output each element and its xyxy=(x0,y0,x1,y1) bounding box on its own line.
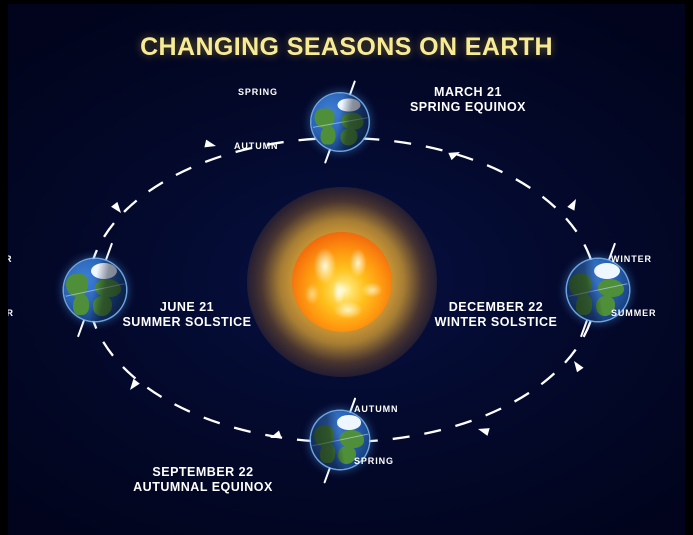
season-label-spring: SPRING xyxy=(238,87,278,97)
event-line: WINTER SOLSTICE xyxy=(416,315,576,330)
earth-winter-solstice[interactable]: WINTER SUMMER xyxy=(533,225,663,355)
earth-autumnal-equinox[interactable]: AUTUMN SPRING xyxy=(280,380,400,500)
season-label-summer: SUMMER xyxy=(8,254,12,264)
orbit-arrow-icon xyxy=(111,202,124,216)
event-line: SUMMER SOLSTICE xyxy=(107,315,267,330)
date-line: SEPTEMBER 22 xyxy=(113,465,293,480)
earth-globe xyxy=(312,94,369,151)
season-label-autumn: AUTUMN xyxy=(234,141,278,151)
diagram-canvas: CHANGING SEASONS ON EARTH SPRING AUTUM xyxy=(0,0,693,535)
season-label-winter: WINTER xyxy=(611,254,652,264)
date-label-summer-solstice: JUNE 21 SUMMER SOLSTICE xyxy=(107,300,267,330)
orbit-arrow-icon xyxy=(204,140,217,150)
earth-summer-solstice[interactable]: SUMMER WINTER xyxy=(30,225,160,355)
day-night-terminator xyxy=(312,94,369,151)
orbit-arrow-icon xyxy=(127,379,140,393)
season-label-summer: SUMMER xyxy=(611,308,656,318)
sun-disc xyxy=(292,232,392,332)
event-line: SPRING EQUINOX xyxy=(397,100,539,115)
orbit-arrow-icon xyxy=(571,359,584,373)
date-line: MARCH 21 xyxy=(397,85,539,100)
date-label-spring-equinox: MARCH 21 SPRING EQUINOX xyxy=(397,85,539,115)
date-label-autumnal-equinox: SEPTEMBER 22 AUTUMNAL EQUINOX xyxy=(113,465,293,495)
season-label-winter: WINTER xyxy=(8,308,14,318)
sun-graphic xyxy=(247,187,437,377)
space-background: CHANGING SEASONS ON EARTH SPRING AUTUM xyxy=(8,4,685,535)
date-label-winter-solstice: DECEMBER 22 WINTER SOLSTICE xyxy=(416,300,576,330)
earth-spring-equinox[interactable]: SPRING AUTUMN xyxy=(280,62,400,182)
orbit-arrow-icon xyxy=(567,197,579,210)
date-line: JUNE 21 xyxy=(107,300,267,315)
date-line: DECEMBER 22 xyxy=(416,300,576,315)
season-label-autumn: AUTUMN xyxy=(354,404,398,414)
event-line: AUTUMNAL EQUINOX xyxy=(113,480,293,495)
page-title: CHANGING SEASONS ON EARTH xyxy=(8,33,685,62)
season-label-spring: SPRING xyxy=(354,456,394,466)
orbit-arrow-icon xyxy=(477,425,490,436)
